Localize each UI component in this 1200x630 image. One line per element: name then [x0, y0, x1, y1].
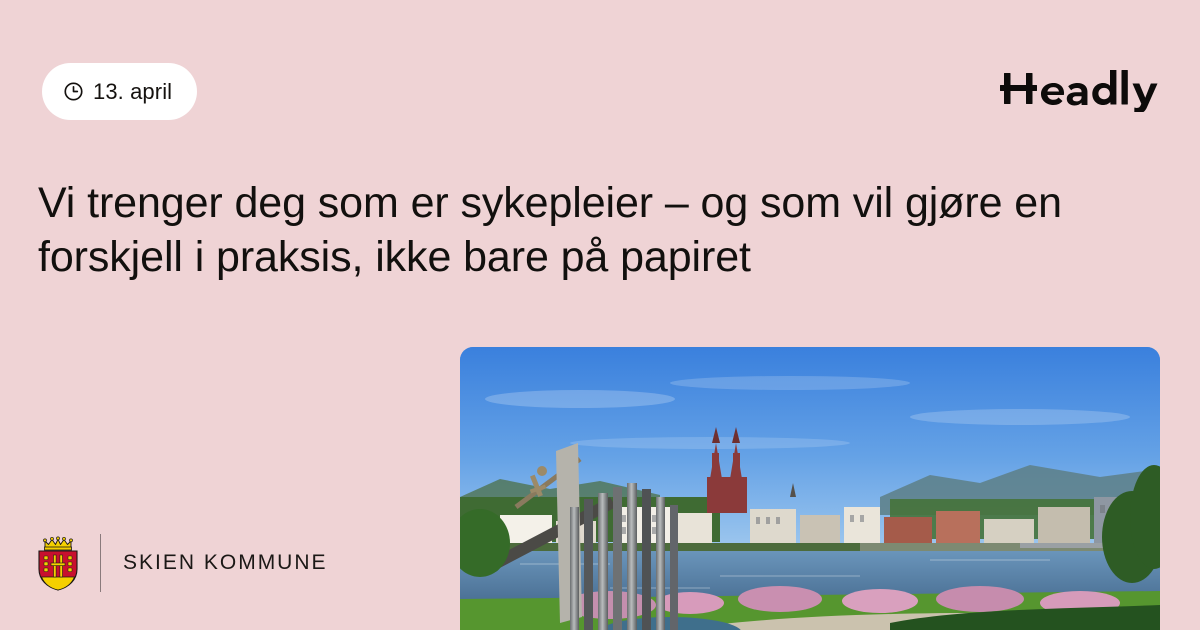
clock-icon [63, 81, 84, 102]
headly-logo[interactable] [1000, 64, 1160, 112]
page-title: Vi trenger deg som er sykepleier – og so… [38, 176, 1098, 284]
skien-coat-of-arms-icon [36, 535, 80, 591]
date-label: 13. april [93, 81, 172, 103]
article-image [460, 347, 1160, 630]
municipality-logo: SKIEN KOMMUNE [36, 533, 328, 593]
date-badge: 13. april [42, 63, 197, 120]
logo-divider [100, 534, 101, 592]
municipality-name: SKIEN KOMMUNE [123, 551, 328, 575]
social-share-card: 13. april Vi trenger deg som er [0, 0, 1200, 630]
